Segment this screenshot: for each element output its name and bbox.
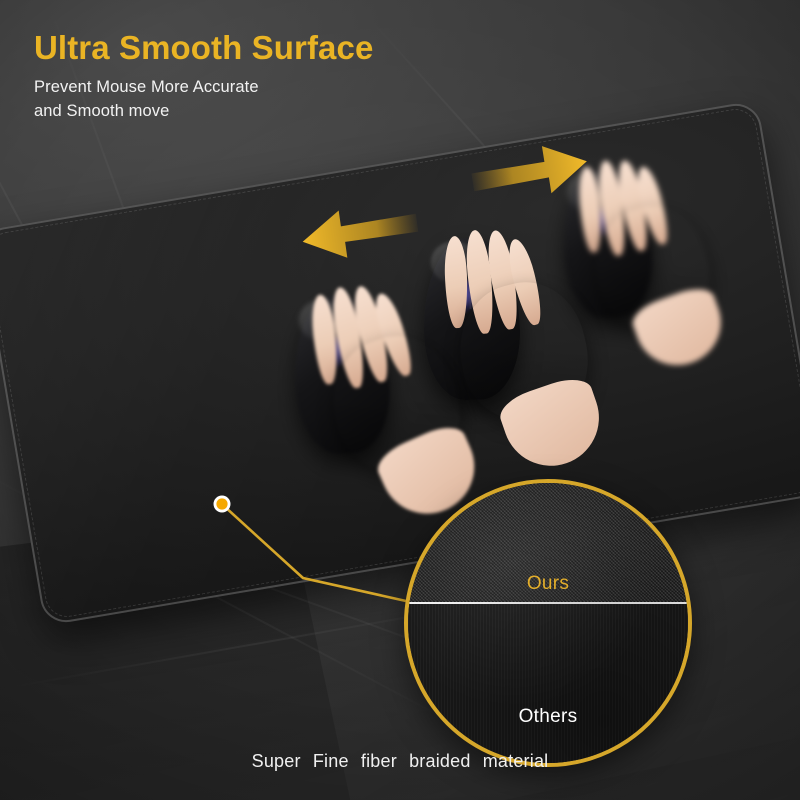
- headline-block: Ultra Smooth Surface Prevent Mouse More …: [34, 30, 554, 123]
- subtitle-line-1: Prevent Mouse More Accurate: [34, 78, 259, 96]
- others-label: Others: [408, 706, 688, 728]
- subtitle-line-2: and Smooth move: [34, 102, 169, 120]
- page-title: Ultra Smooth Surface: [34, 30, 554, 66]
- product-marketing-image: Ultra Smooth Surface Prevent Mouse More …: [0, 0, 800, 800]
- material-caption: Super Fine fiber braided material: [0, 751, 800, 772]
- page-subtitle: Prevent Mouse More Accurate and Smooth m…: [34, 76, 554, 124]
- ours-label: Ours: [408, 573, 688, 595]
- material-comparison-magnifier: Ours Others: [404, 479, 692, 767]
